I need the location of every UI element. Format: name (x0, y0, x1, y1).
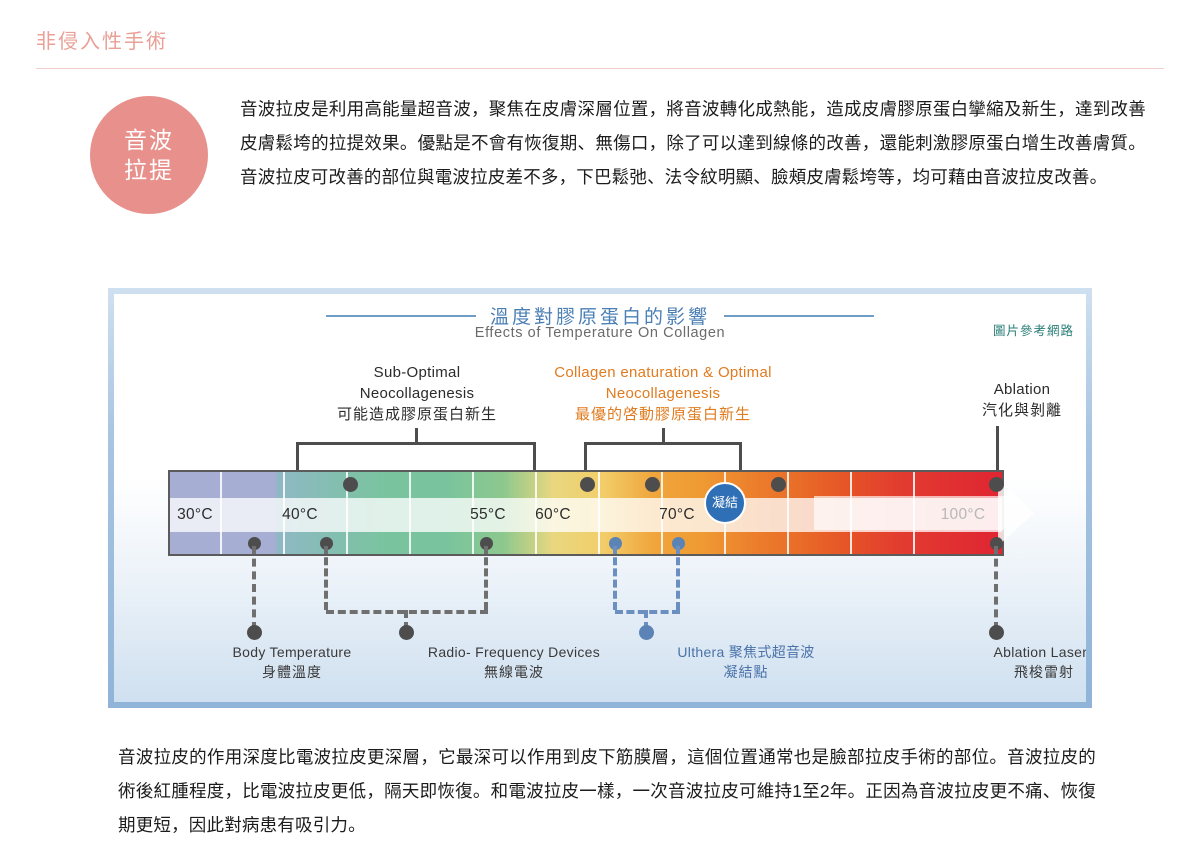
badge-line-2: 拉提 (124, 155, 174, 185)
marker-dot-100c-top (989, 477, 1004, 492)
connector-body-temp (252, 546, 256, 630)
bracket-top (296, 442, 536, 445)
badge-line-1: 音波 (124, 125, 174, 155)
chart-credit: 圖片參考網路 (993, 320, 1074, 339)
outro-paragraph: 音波拉皮的作用深度比電波拉皮更深層，它最深可以作用到皮下筋膜層，這個位置通常也是… (118, 740, 1096, 842)
connector-ulthera-left (613, 546, 617, 610)
title-rule-right (724, 315, 874, 317)
chart-subtitle: Effects of Temperature On Collagen (114, 325, 1086, 341)
annotation-sub-optimal-cn: 可能造成膠原蛋白新生 (312, 404, 522, 425)
annotation-optimal: Collagen enaturation & Optimal Neocollag… (518, 362, 808, 425)
chart-inner-panel: 溫度對膠原蛋白的影響 Effects of Temperature On Col… (114, 294, 1086, 702)
annotation-sub-optimal: Sub-Optimal Neocollagenesis 可能造成膠原蛋白新生 (312, 362, 522, 425)
annotation-optimal-en2: Neocollagenesis (518, 383, 808, 404)
endpoint-dot-body-temp (247, 625, 262, 640)
tick-label-60c: 60°C (518, 498, 588, 532)
marker-dot-40c-top (343, 477, 358, 492)
bar-arrow-stem (814, 496, 1004, 530)
header-divider (36, 68, 1164, 69)
bracket-top (584, 442, 742, 445)
page-title: 非侵入性手術 (36, 30, 1166, 54)
legend-body-temperature: Body Temperature 身體溫度 (192, 642, 392, 682)
legend-body-temperature-en: Body Temperature (192, 642, 392, 662)
annotation-optimal-cn: 最優的啓動膠原蛋白新生 (518, 404, 808, 425)
annotation-optimal-en1: Collagen enaturation & Optimal (518, 362, 808, 383)
title-rule-left (326, 315, 476, 317)
tick-label-55c: 55°C (453, 498, 523, 532)
annotation-ablation-en: Ablation (942, 379, 1086, 400)
tick-label-70c: 70°C (642, 498, 712, 532)
legend-ablation-lasers: Ablation Lasers 飛梭雷射 (944, 642, 1086, 682)
legend-ablation-lasers-en: Ablation Lasers (944, 642, 1086, 662)
annotation-sub-optimal-en2: Neocollagenesis (312, 383, 522, 404)
temperature-collagen-chart: 溫度對膠原蛋白的影響 Effects of Temperature On Col… (108, 288, 1092, 708)
endpoint-dot-ulthera (639, 625, 654, 640)
bar-arrow-head-icon (998, 480, 1034, 546)
connector-rf-left (324, 546, 328, 610)
coagulation-badge: 凝結 (704, 482, 746, 524)
tick-label-30c: 30°C (170, 498, 220, 532)
legend-ulthera-cn: 凝結點 (566, 662, 926, 682)
marker-dot-60c-top (645, 477, 660, 492)
connector-ablation (994, 546, 998, 630)
legend-ablation-lasers-cn: 飛梭雷射 (944, 662, 1086, 682)
endpoint-dot-rf (399, 625, 414, 640)
treatment-badge: 音波 拉提 (90, 96, 208, 214)
marker-dot-55c-top (580, 477, 595, 492)
tick-label-40c: 40°C (265, 498, 335, 532)
connector-ulthera-right (676, 546, 680, 610)
marker-dot-70c-top (771, 477, 786, 492)
annotation-sub-optimal-en1: Sub-Optimal (312, 362, 522, 383)
intro-paragraph: 音波拉皮是利用高能量超音波，聚焦在皮膚深層位置，將音波轉化成熱能，造成皮膚膠原蛋… (240, 92, 1146, 194)
annotation-ablation-cn: 汽化與剝離 (942, 400, 1086, 421)
annotation-ablation: Ablation 汽化與剝離 (942, 379, 1086, 421)
legend-ulthera-en: Ulthera 聚焦式超音波 (566, 642, 926, 662)
endpoint-dot-ablation (989, 625, 1004, 640)
legend-body-temperature-cn: 身體溫度 (192, 662, 392, 682)
connector-rf-right (484, 546, 488, 610)
section-header: 非侵入性手術 (36, 30, 1166, 72)
legend-ulthera: Ulthera 聚焦式超音波 凝結點 (566, 642, 926, 682)
